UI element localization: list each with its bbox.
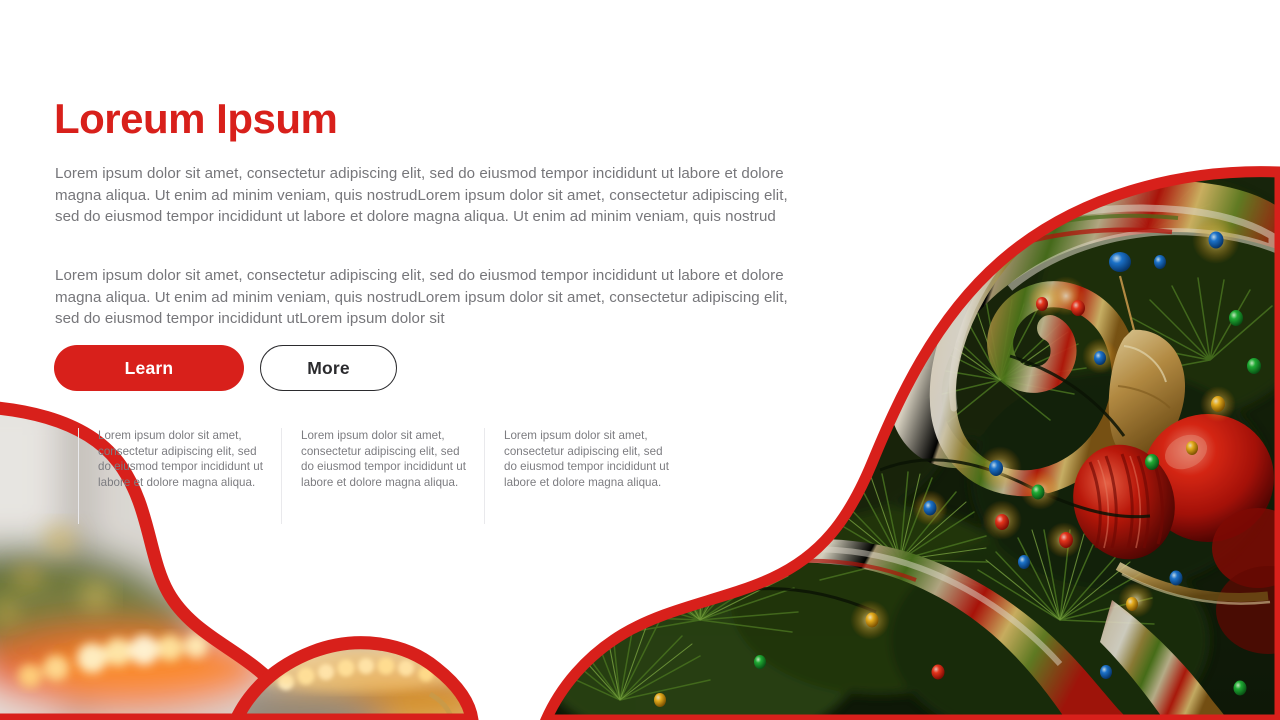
learn-button[interactable]: Learn: [54, 345, 244, 391]
more-button[interactable]: More: [260, 345, 397, 391]
feature-divider-3: [484, 428, 485, 524]
feature-text-2: Lorem ipsum dolor sit amet, consectetur …: [301, 428, 468, 490]
body-paragraph-1: Lorem ipsum dolor sit amet, consectetur …: [55, 163, 815, 227]
feature-columns: Lorem ipsum dolor sit amet, consectetur …: [78, 428, 687, 490]
cta-button-group: Learn More: [54, 345, 397, 391]
feature-divider-1: [78, 428, 79, 524]
slide-content: Loreum Ipsum Lorem ipsum dolor sit amet,…: [0, 0, 1280, 720]
feature-text-1: Lorem ipsum dolor sit amet, consectetur …: [98, 428, 265, 490]
feature-column-3: Lorem ipsum dolor sit amet, consectetur …: [484, 428, 687, 490]
feature-column-1: Lorem ipsum dolor sit amet, consectetur …: [78, 428, 281, 490]
feature-column-2: Lorem ipsum dolor sit amet, consectetur …: [281, 428, 484, 490]
page-title: Loreum Ipsum: [54, 96, 337, 142]
slide-canvas: Loreum Ipsum Lorem ipsum dolor sit amet,…: [0, 0, 1280, 720]
feature-divider-2: [281, 428, 282, 524]
body-paragraph-2: Lorem ipsum dolor sit amet, consectetur …: [55, 265, 815, 329]
feature-text-3: Lorem ipsum dolor sit amet, consectetur …: [504, 428, 671, 490]
